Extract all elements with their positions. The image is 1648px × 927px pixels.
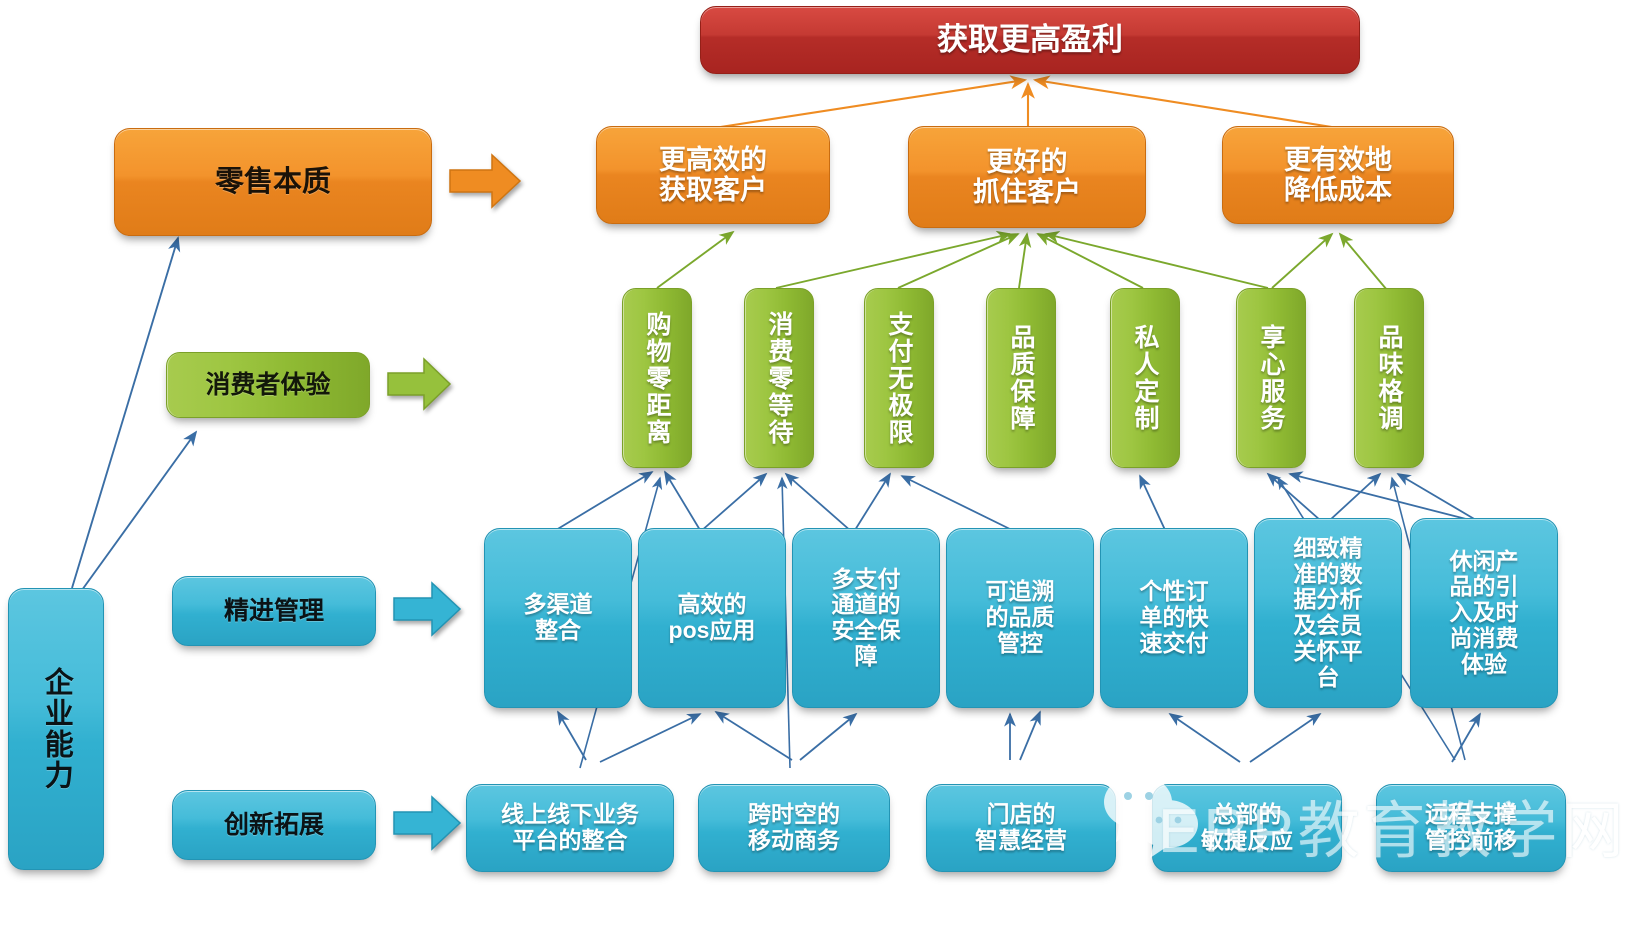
experience-box-5[interactable]: 私人定制 [1110, 288, 1180, 468]
left-label-text-2: 精进管理 [224, 597, 324, 625]
left-label-innovation-expansion[interactable]: 创新拓展 [172, 790, 376, 860]
management-label-1: 多渠道 整合 [524, 592, 593, 644]
left-label-consumer-experience[interactable]: 消费者体验 [166, 352, 370, 418]
objective-label-1: 更高效的 获取客户 [659, 145, 767, 205]
left-label-text-0: 零售本质 [215, 166, 331, 198]
management-label-2: 高效的 pos应用 [669, 592, 756, 644]
innovation-box-3[interactable]: 门店的 智慧经营 [926, 784, 1116, 872]
management-box-7[interactable]: 休闲产 品的引 入及时 尚消费 体验 [1410, 518, 1558, 708]
arrow-icon-consumer-experience [386, 356, 452, 412]
management-box-4[interactable]: 可追溯 的品质 管控 [946, 528, 1094, 708]
management-label-6: 细致精 准的数 据分析 及会员 关怀平 台 [1294, 536, 1363, 691]
experience-label-1: 购物零距离 [643, 311, 671, 446]
experience-box-2[interactable]: 消费零等待 [744, 288, 814, 468]
innovation-box-2[interactable]: 跨时空的 移动商务 [698, 784, 890, 872]
objective-box-2[interactable]: 更好的 抓住客户 [908, 126, 1146, 228]
goal-box[interactable]: 获取更高盈利 [700, 6, 1360, 74]
experience-box-1[interactable]: 购物零距离 [622, 288, 692, 468]
objective-box-1[interactable]: 更高效的 获取客户 [596, 126, 830, 224]
left-label-text-3: 创新拓展 [224, 811, 324, 839]
innovation-box-5[interactable]: 远程支撑 管控前移 [1376, 784, 1566, 872]
management-label-3: 多支付 通道的 安全保 障 [832, 567, 901, 670]
innovation-box-1[interactable]: 线上线下业务 平台的整合 [466, 784, 674, 872]
arrow-icon-refined-management [392, 580, 462, 638]
goal-label: 获取更高盈利 [937, 23, 1123, 58]
management-box-1[interactable]: 多渠道 整合 [484, 528, 632, 708]
objective-box-3[interactable]: 更有效地 降低成本 [1222, 126, 1454, 224]
enterprise-capability-box[interactable]: 企业能力 [8, 588, 104, 870]
management-label-4: 可追溯 的品质 管控 [986, 579, 1055, 656]
objective-label-2: 更好的 抓住客户 [973, 147, 1081, 207]
diagram-canvas: 获取更高盈利 更高效的 获取客户 更好的 抓住客户 更有效地 降低成本 零售本质… [0, 0, 1648, 927]
experience-label-7: 品味格调 [1375, 324, 1403, 432]
innovation-label-2: 跨时空的 移动商务 [748, 802, 840, 854]
left-label-refined-management[interactable]: 精进管理 [172, 576, 376, 646]
experience-box-3[interactable]: 支付无极限 [864, 288, 934, 468]
innovation-label-1: 线上线下业务 平台的整合 [501, 802, 639, 854]
management-box-3[interactable]: 多支付 通道的 安全保 障 [792, 528, 940, 708]
left-label-retail-essence[interactable]: 零售本质 [114, 128, 432, 236]
objective-label-3: 更有效地 降低成本 [1284, 145, 1392, 205]
experience-box-4[interactable]: 品质保障 [986, 288, 1056, 468]
arrow-icon-retail-essence [448, 152, 522, 210]
experience-label-5: 私人定制 [1131, 324, 1159, 432]
enterprise-capability-label: 企业能力 [40, 667, 72, 791]
management-label-5: 个性订 单的快 速交付 [1140, 579, 1209, 656]
experience-box-6[interactable]: 享心服务 [1236, 288, 1306, 468]
management-box-2[interactable]: 高效的 pos应用 [638, 528, 786, 708]
innovation-label-5: 远程支撑 管控前移 [1425, 802, 1517, 854]
management-box-6[interactable]: 细致精 准的数 据分析 及会员 关怀平 台 [1254, 518, 1402, 708]
management-box-5[interactable]: 个性订 单的快 速交付 [1100, 528, 1248, 708]
experience-label-3: 支付无极限 [885, 311, 913, 446]
left-label-text-1: 消费者体验 [205, 371, 330, 399]
innovation-box-4[interactable]: 总部的 敏捷反应 [1152, 784, 1342, 872]
experience-label-2: 消费零等待 [765, 311, 793, 446]
experience-box-7[interactable]: 品味格调 [1354, 288, 1424, 468]
management-label-7: 休闲产 品的引 入及时 尚消费 体验 [1450, 549, 1519, 678]
arrow-icon-innovation-expansion [392, 794, 462, 852]
innovation-label-3: 门店的 智慧经营 [975, 802, 1067, 854]
experience-label-4: 品质保障 [1007, 324, 1035, 432]
innovation-label-4: 总部的 敏捷反应 [1201, 802, 1293, 854]
experience-label-6: 享心服务 [1257, 324, 1285, 432]
